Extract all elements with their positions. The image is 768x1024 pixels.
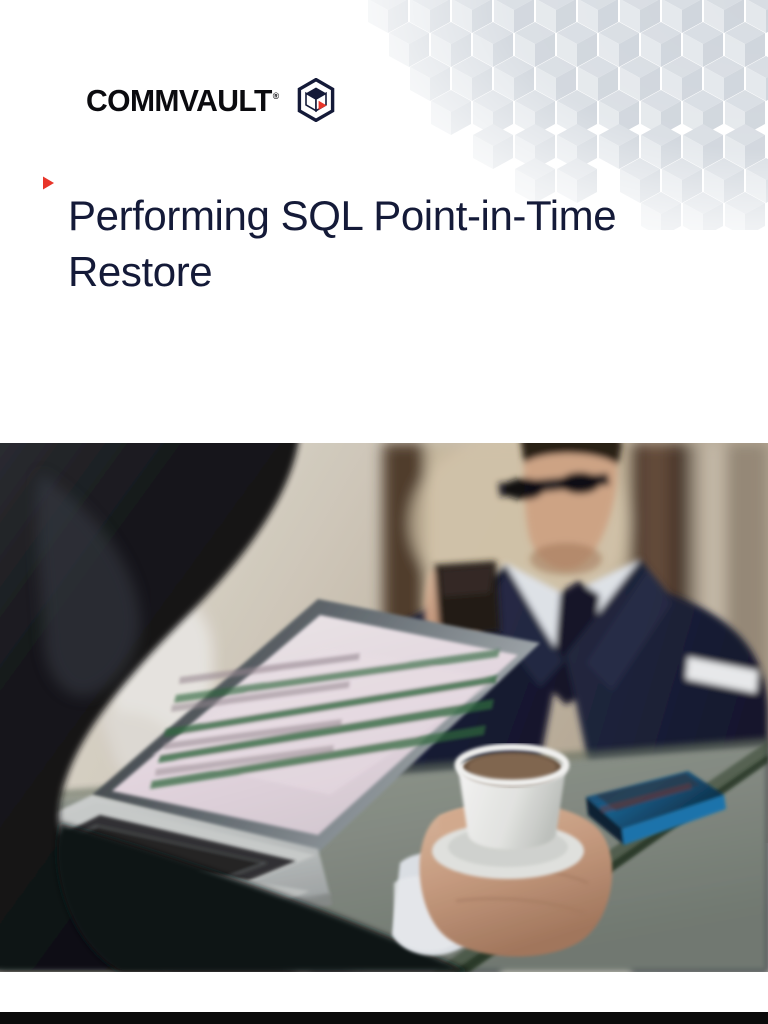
commvault-wordmark-text: COMMVAULT xyxy=(86,83,272,118)
red-triangle-bullet-icon xyxy=(40,174,56,192)
page-title: Performing SQL Point-in-Time Restore xyxy=(68,188,688,299)
hero-image xyxy=(0,443,768,972)
footer-gutter xyxy=(0,972,768,1012)
commvault-logo: COMMVAULT® xyxy=(86,78,336,122)
registered-trademark-icon: ® xyxy=(273,91,279,101)
commvault-cube-logo-icon xyxy=(296,78,336,122)
business-meeting-illustration xyxy=(0,443,768,972)
title-block: Performing SQL Point-in-Time Restore xyxy=(40,160,720,327)
footer-bar xyxy=(0,1012,768,1024)
commvault-wordmark: COMMVAULT® xyxy=(86,85,279,116)
title-slide: COMMVAULT® Performing SQL Point-in-Time … xyxy=(0,0,768,1024)
